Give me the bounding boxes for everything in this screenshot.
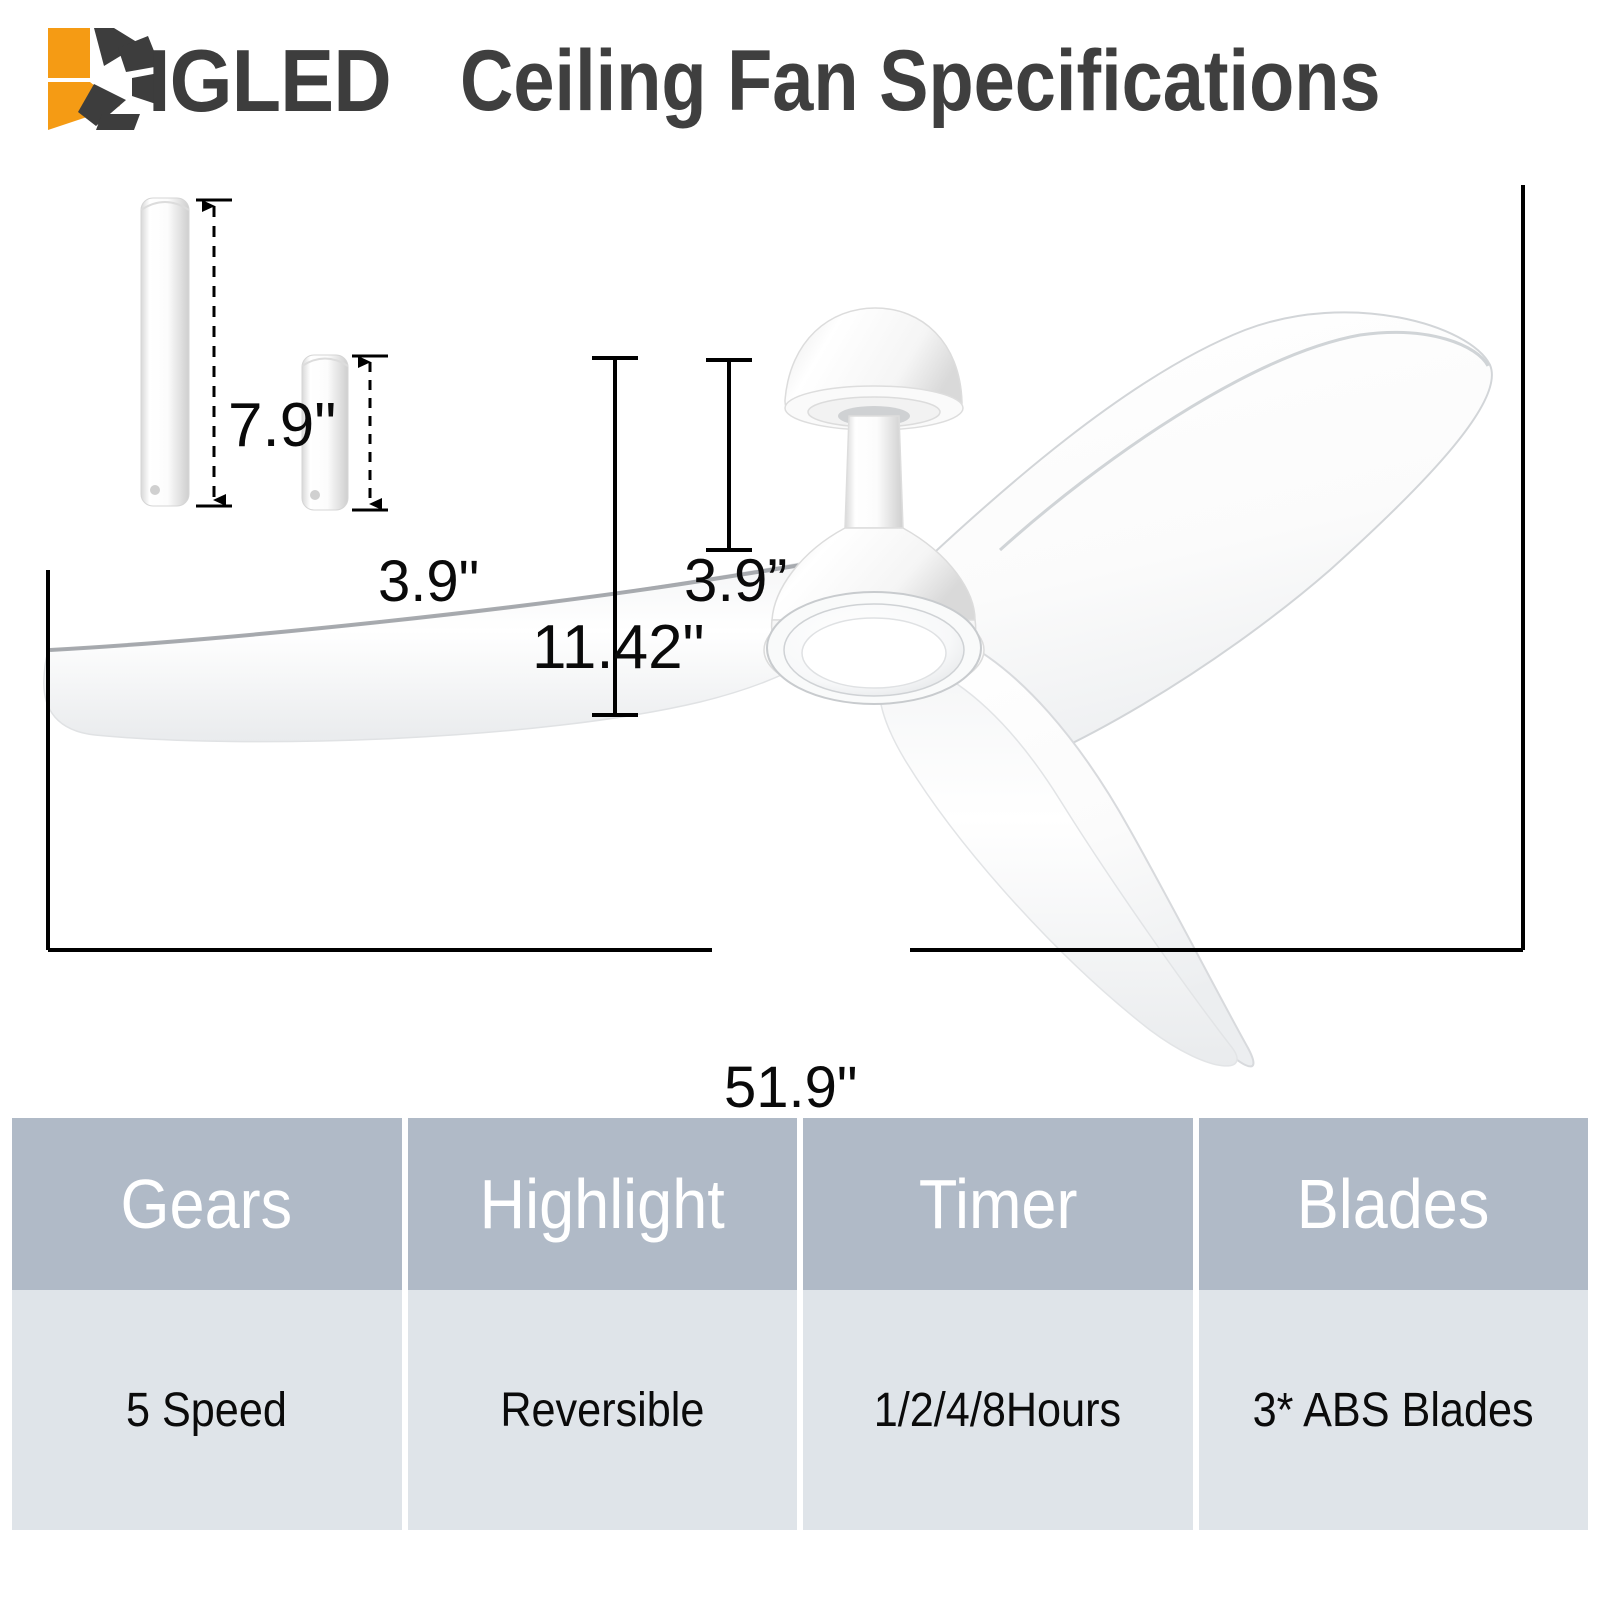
dimension-label-blade-span: 51.9" bbox=[724, 1054, 857, 1121]
dimension-label-downrod-long: 7.9" bbox=[228, 390, 336, 461]
dimension-downrod-long bbox=[196, 200, 232, 506]
table-header-gears-label: Gears bbox=[121, 1164, 293, 1244]
dimension-label-total-height: 11.42" bbox=[532, 612, 705, 683]
fan-downrod bbox=[845, 416, 903, 528]
fan-led-light-icon bbox=[767, 592, 981, 704]
specification-table: Gears Highlight Timer Blades 5 Speed Rev… bbox=[12, 1118, 1588, 1530]
table-cell-timer-value: 1/2/4/8Hours bbox=[874, 1383, 1121, 1438]
table-cell-timer: 1/2/4/8Hours bbox=[803, 1290, 1199, 1530]
fan-canopy-icon bbox=[785, 308, 963, 430]
dimension-canopy-drop bbox=[706, 360, 752, 550]
table-header-blades: Blades bbox=[1199, 1118, 1589, 1290]
table-header-highlight-label: Highlight bbox=[480, 1164, 725, 1244]
table-cell-highlight-value: Reversible bbox=[500, 1383, 704, 1438]
dimension-label-downrod-short: 3.9" bbox=[378, 548, 479, 615]
table-cell-gears-value: 5 Speed bbox=[126, 1383, 287, 1438]
page-header: IGLED Ceiling Fan Specifications bbox=[0, 0, 1600, 150]
product-diagram: 7.9" 3.9" 3.9” 11.42" 51.9" bbox=[0, 150, 1600, 1080]
downrod-long-icon bbox=[141, 198, 189, 506]
page-title: Ceiling Fan Specifications bbox=[460, 32, 1381, 131]
table-cell-highlight: Reversible bbox=[408, 1290, 804, 1530]
table-row: 5 Speed Reversible 1/2/4/8Hours 3* ABS B… bbox=[12, 1290, 1588, 1530]
table-cell-blades-value: 3* ABS Blades bbox=[1253, 1383, 1534, 1438]
brand-name: IGLED bbox=[148, 30, 391, 132]
table-header-blades-label: Blades bbox=[1297, 1164, 1490, 1244]
table-cell-blades: 3* ABS Blades bbox=[1199, 1290, 1589, 1530]
table-header-timer-label: Timer bbox=[918, 1164, 1077, 1244]
dimension-downrod-short bbox=[352, 356, 388, 510]
table-header-highlight: Highlight bbox=[408, 1118, 804, 1290]
table-header-timer: Timer bbox=[803, 1118, 1199, 1290]
table-cell-gears: 5 Speed bbox=[12, 1290, 408, 1530]
dimension-label-canopy-drop: 3.9” bbox=[684, 546, 787, 615]
table-header-row: Gears Highlight Timer Blades bbox=[12, 1118, 1588, 1290]
table-header-gears: Gears bbox=[12, 1118, 408, 1290]
